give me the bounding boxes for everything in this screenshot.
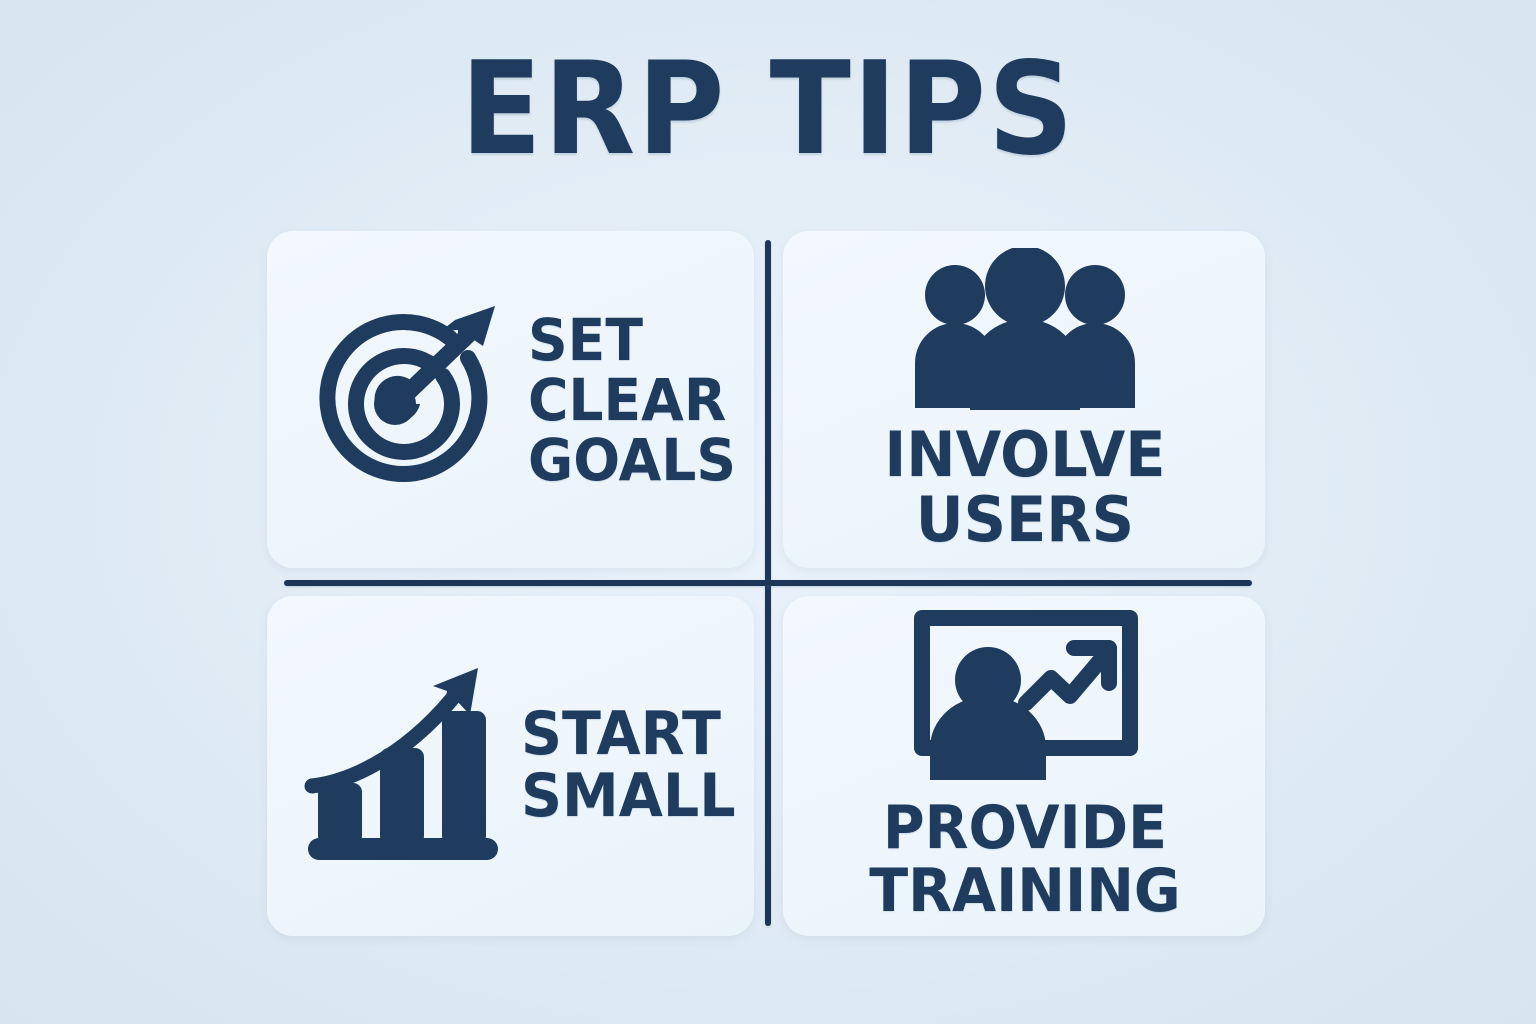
tip-label-line: USERS bbox=[884, 488, 1165, 552]
page-title: ERP TIPS bbox=[54, 46, 1482, 174]
tip-label-provide-training: PROVIDE TRAINING bbox=[869, 797, 1180, 922]
tip-set-clear-goals: SET CLEAR GOALS bbox=[300, 255, 730, 545]
tip-label-line: PROVIDE bbox=[869, 797, 1180, 859]
tip-label-involve-users: INVOLVE USERS bbox=[884, 423, 1165, 552]
tip-provide-training: PROVIDE TRAINING bbox=[800, 605, 1250, 925]
tip-label-start-small: START SMALL bbox=[521, 703, 736, 828]
tip-involve-users: INVOLVE USERS bbox=[800, 245, 1250, 555]
divider-horizontal bbox=[284, 580, 1252, 586]
tip-label-line: SMALL bbox=[521, 765, 736, 827]
tip-label-line: START bbox=[521, 703, 736, 765]
tip-start-small: START SMALL bbox=[300, 625, 730, 905]
group-of-people-icon bbox=[890, 248, 1160, 413]
tip-label-line: SET bbox=[528, 310, 736, 370]
tip-label-line: CLEAR bbox=[528, 370, 736, 430]
target-arrow-icon bbox=[300, 300, 510, 500]
tip-label-line: INVOLVE bbox=[884, 423, 1165, 487]
tip-label-set-clear-goals: SET CLEAR GOALS bbox=[528, 310, 736, 491]
tip-label-line: TRAINING bbox=[869, 860, 1180, 922]
tip-label-line: GOALS bbox=[528, 430, 736, 490]
growth-bar-chart-icon bbox=[300, 663, 505, 868]
infographic-canvas: ERP TIPS bbox=[0, 0, 1536, 1024]
presentation-board-person-icon bbox=[908, 608, 1143, 783]
